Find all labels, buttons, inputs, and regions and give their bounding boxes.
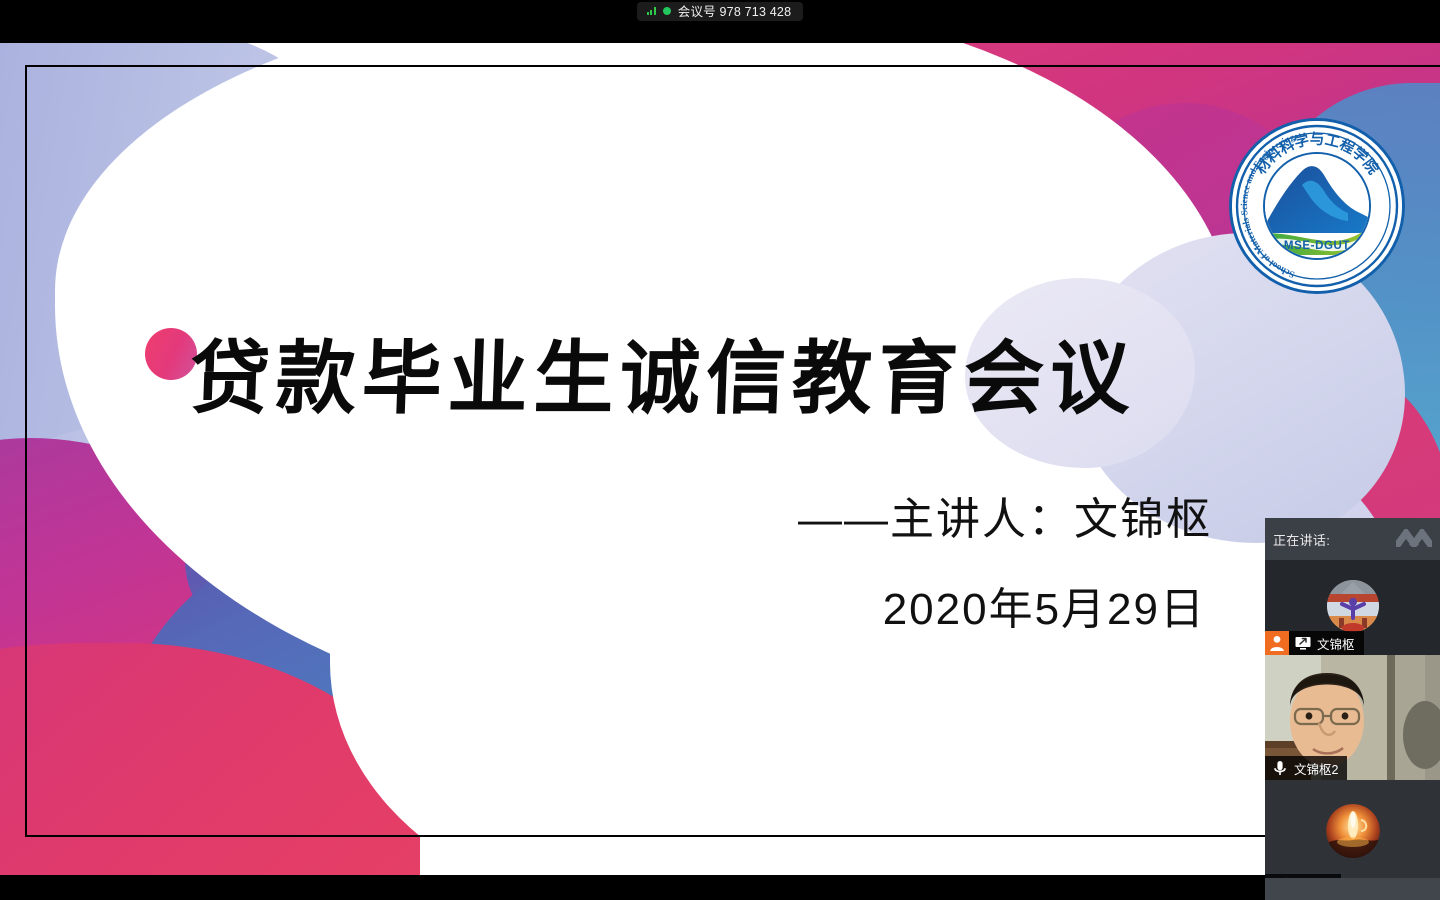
sidebar-footer-strip [1265,878,1440,900]
participant-sidebar: 正在讲话: [1265,518,1440,900]
slide-date-line: 2020年5月29日 [883,573,1206,637]
svg-text:MSE-DGUT: MSE-DGUT [1284,240,1350,252]
double-chevron-collapse-icon[interactable] [1396,529,1432,547]
avatar [1327,580,1379,632]
now-speaking-label: 正在讲话: [1273,530,1330,549]
microphone-icon [1270,758,1290,778]
screen-share-icon [1293,633,1313,653]
slide-title: 贷款毕业生诚信教育会议 [189,339,1262,419]
participant-video-area: 文锦枢 [1265,560,1440,655]
decor-accent-dot [145,328,197,380]
slide-white-field-3 [420,683,1320,875]
meeting-id-pill[interactable]: 会议号 978 713 428 [637,2,804,21]
meeting-topbar: 会议号 978 713 428 [0,0,1440,22]
sidebar-header: 正在讲话: [1265,518,1440,560]
participant-tile[interactable]: 文锦枢 [1265,560,1440,655]
recording-status-dot [663,7,671,15]
participant-name-badge: 文锦枢2 [1265,756,1347,780]
signal-bars-icon [647,6,656,15]
meeting-id-label: 会议号 978 713 428 [678,1,792,20]
slide-border-bottom [250,835,1440,837]
participant-tile[interactable]: 文锦枢2 [1265,655,1440,780]
participant-name: 文锦枢 [1317,634,1355,653]
participant-name: 文锦枢2 [1294,759,1338,778]
slide-canvas: MSE-DGUT 材料科学与工程学院 School of Materials S… [0,43,1440,875]
participant-video-area: 文锦枢2 [1265,655,1440,780]
screen-root: 会议号 978 713 428 [0,0,1440,900]
avatar [1326,804,1380,858]
shared-screen-slide[interactable]: MSE-DGUT 材料科学与工程学院 School of Materials S… [0,43,1440,875]
participant-name-badge: 文锦枢 [1265,631,1364,655]
slide-presenter-line: ——主讲人：文锦枢 [798,483,1212,547]
host-person-icon [1265,631,1289,655]
school-of-materials-science-logo: MSE-DGUT 材料科学与工程学院 School of Materials S… [1232,121,1402,291]
